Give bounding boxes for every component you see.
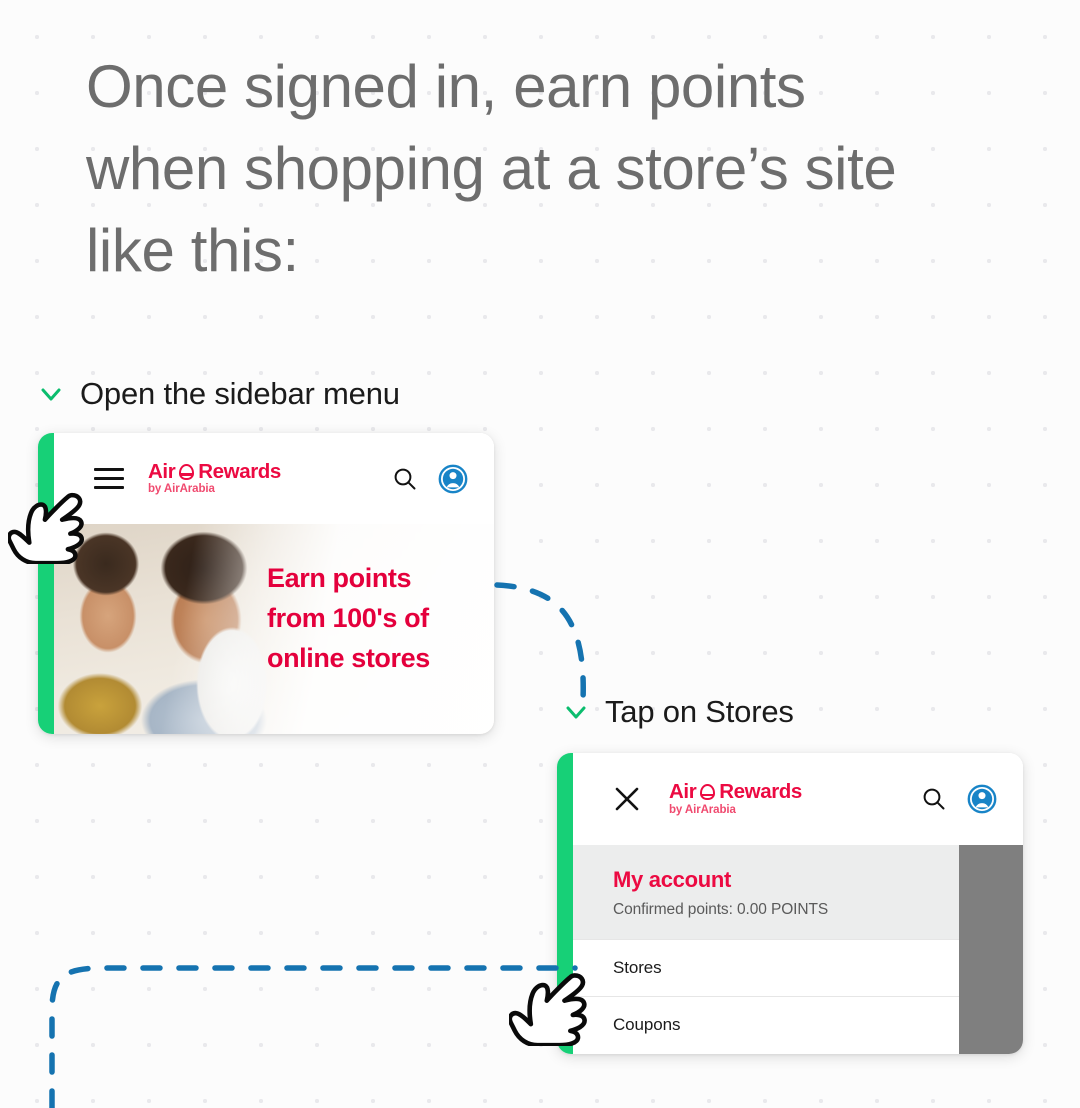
account-avatar-icon[interactable] bbox=[967, 784, 997, 814]
step-label-tap-stores: Tap on Stores bbox=[563, 694, 794, 730]
brand-logo-wordmark: Air Rewards bbox=[148, 462, 281, 483]
banner-copy-line-2: from 100's of bbox=[267, 598, 430, 638]
banner-copy-line-1: Earn points bbox=[267, 558, 430, 598]
sidebar-menu-area: of s My account Confirmed points: 0.00 P… bbox=[573, 845, 1023, 1054]
headline-line-1: Once signed in, earn points bbox=[86, 46, 986, 128]
menu-item-label: Coupons bbox=[613, 1015, 680, 1035]
card-accent-bar bbox=[38, 433, 54, 734]
step-label-text: Tap on Stores bbox=[605, 694, 794, 730]
brand-name-part2: Rewards bbox=[198, 462, 281, 483]
header-actions bbox=[921, 784, 997, 814]
brand-name-part2: Rewards bbox=[719, 782, 802, 803]
brand-name-part1: Air bbox=[148, 462, 175, 483]
brand-logo[interactable]: Air Rewards by AirArabia bbox=[148, 462, 281, 496]
screenshot-card-sidebar: Air Rewards by AirArabia bbox=[557, 753, 1023, 1054]
app-header-bar: Air Rewards by AirArabia bbox=[54, 433, 494, 524]
confirmed-points-value: Confirmed points: 0.00 POINTS bbox=[613, 901, 959, 919]
header-actions bbox=[392, 464, 468, 494]
promo-banner: Earn points from 100's of online stores bbox=[54, 524, 494, 734]
headline-line-2: when shopping at a store’s site bbox=[86, 128, 986, 210]
brand-logo[interactable]: Air Rewards by AirArabia bbox=[669, 782, 802, 816]
connector-line-to-stores bbox=[52, 968, 575, 1108]
card-content: Air Rewards by AirArabia bbox=[573, 753, 1023, 1054]
menu-item-my-account[interactable]: My account Confirmed points: 0.00 POINTS bbox=[573, 845, 959, 939]
close-x-icon[interactable] bbox=[613, 785, 641, 813]
brand-logo-subtitle: by AirArabia bbox=[148, 484, 281, 496]
brand-name-part1: Air bbox=[669, 782, 696, 803]
page-headline: Once signed in, earn points when shoppin… bbox=[86, 46, 986, 292]
step-label-text: Open the sidebar menu bbox=[80, 376, 400, 412]
search-icon[interactable] bbox=[392, 466, 418, 492]
chevron-down-icon bbox=[563, 699, 589, 725]
step-label-open-sidebar: Open the sidebar menu bbox=[38, 376, 400, 412]
banner-copy-line-3: online stores bbox=[267, 638, 430, 678]
screenshot-card-home: Air Rewards by AirArabia bbox=[38, 433, 494, 734]
my-account-title: My account bbox=[613, 867, 959, 892]
menu-backdrop-scrim[interactable]: of s bbox=[959, 845, 1023, 1054]
card-content: Air Rewards by AirArabia bbox=[54, 433, 494, 734]
sidebar-menu-panel: My account Confirmed points: 0.00 POINTS… bbox=[573, 845, 959, 1054]
menu-item-label: Stores bbox=[613, 958, 662, 978]
search-icon[interactable] bbox=[921, 786, 947, 812]
app-header-bar: Air Rewards by AirArabia bbox=[573, 753, 1023, 845]
menu-item-coupons[interactable]: Coupons bbox=[573, 996, 959, 1053]
pointing-hand-cursor-icon bbox=[8, 482, 90, 564]
menu-item-stores[interactable]: Stores bbox=[573, 939, 959, 996]
connector-curve-step1-to-step2 bbox=[497, 585, 583, 700]
brand-logo-subtitle: by AirArabia bbox=[669, 805, 802, 817]
hamburger-menu-icon[interactable] bbox=[94, 468, 124, 490]
rewards-bell-icon bbox=[700, 784, 715, 800]
brand-logo-wordmark: Air Rewards bbox=[669, 782, 802, 803]
headline-line-3: like this: bbox=[86, 210, 986, 292]
chevron-down-icon bbox=[38, 381, 64, 407]
pointing-hand-cursor-icon bbox=[509, 962, 593, 1046]
account-avatar-icon[interactable] bbox=[438, 464, 468, 494]
banner-copy: Earn points from 100's of online stores bbox=[267, 558, 430, 678]
rewards-bell-icon bbox=[179, 464, 194, 480]
